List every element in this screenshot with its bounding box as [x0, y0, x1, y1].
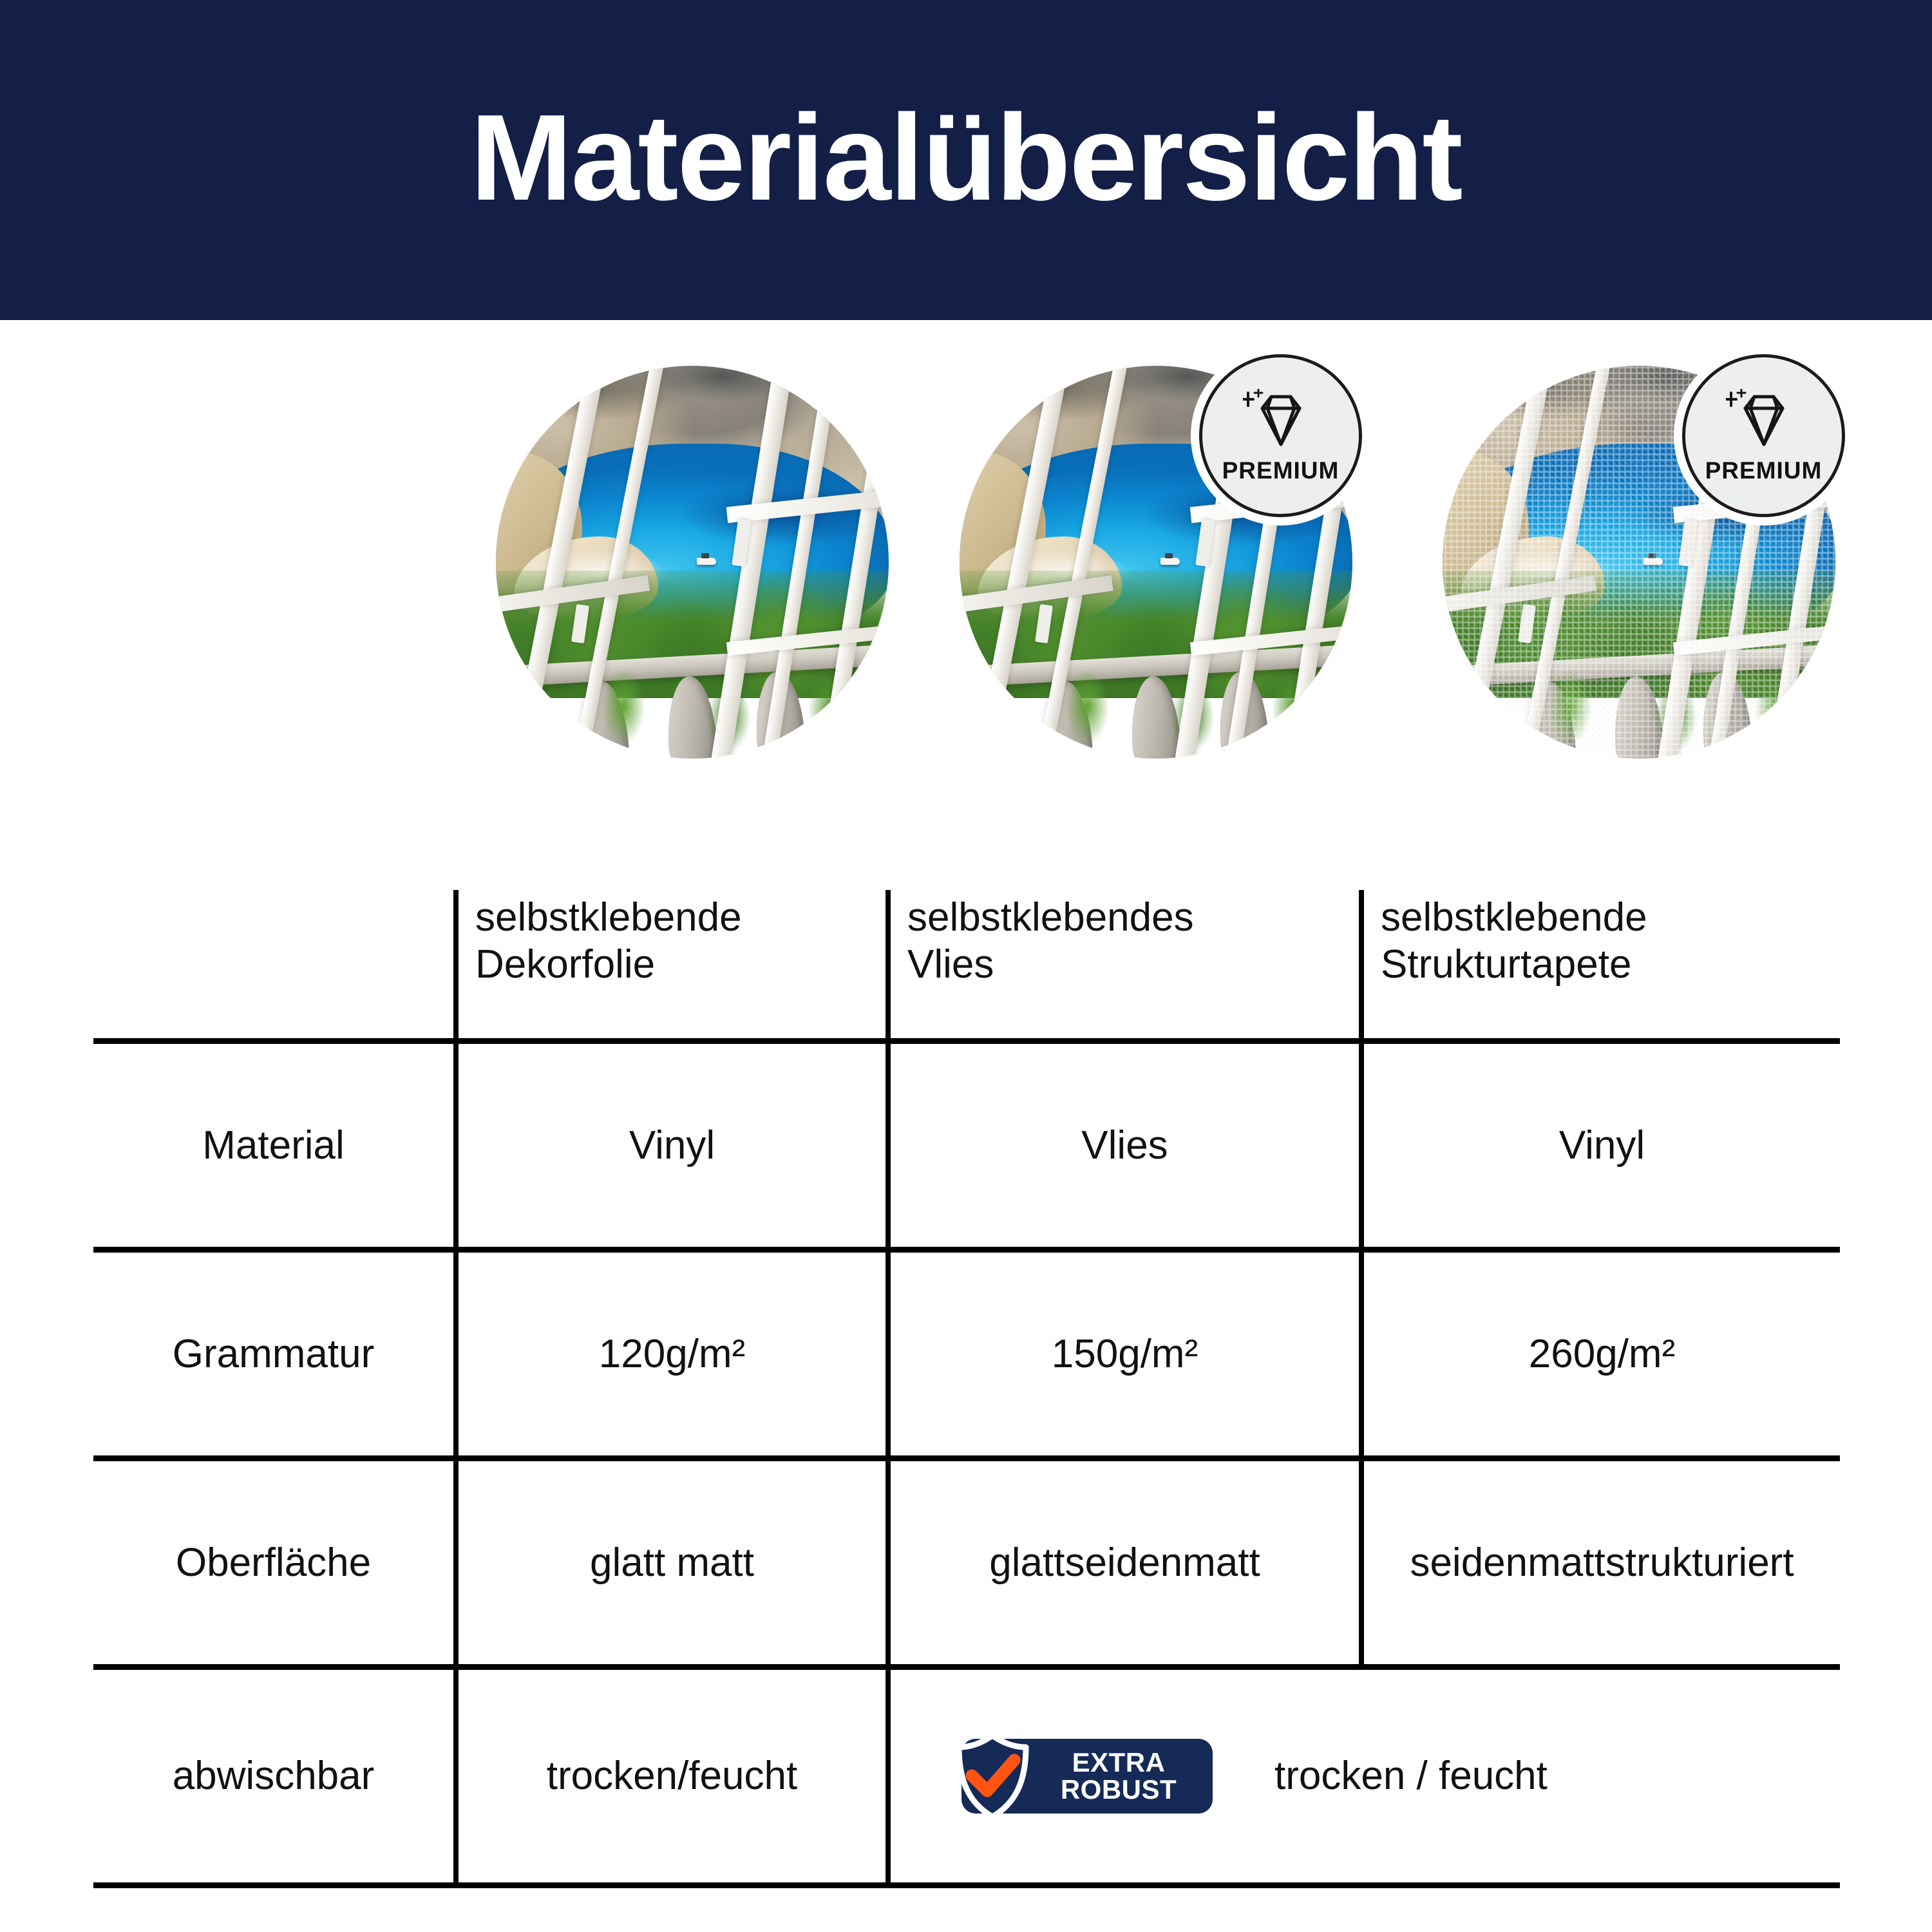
- premium-badge-label: PREMIUM: [1222, 459, 1340, 482]
- shield-check-icon: [952, 1732, 1032, 1821]
- balcony-railing: [960, 656, 1352, 759]
- cell-oberflaeche-strukturtapete: seidenmattstrukturiert: [1359, 1461, 1840, 1664]
- product-preview-strukturtapete[interactable]: PREMIUM: [1443, 361, 1842, 760]
- baluster: [496, 685, 544, 759]
- cell-grammatur-vlies: 150g/m²: [885, 1253, 1359, 1455]
- column-header-line1: selbstklebende: [475, 894, 742, 941]
- preview-image-dekorfolie: [496, 366, 889, 759]
- column-header-dekorfolie: selbstklebende Dekorfolie: [453, 890, 885, 1038]
- table-row-oberflaeche: Oberfläche glatt matt glattseidenmatt se…: [93, 1455, 1840, 1664]
- column-header-line2: Vlies: [907, 941, 1194, 988]
- column-header-line1: selbstklebendes: [907, 894, 1194, 941]
- cell-material-dekorfolie: Vinyl: [453, 1044, 885, 1247]
- cell-grammatur-dekorfolie: 120g/m²: [453, 1253, 885, 1455]
- diamond-icon: [1726, 389, 1802, 451]
- baluster: [1041, 679, 1095, 759]
- cell-grammatur-strukturtapete: 260g/m²: [1359, 1253, 1840, 1455]
- cell-abwischbar-value: trocken / feucht: [1274, 1752, 1548, 1799]
- cell-oberflaeche-dekorfolie: glatt matt: [453, 1461, 885, 1664]
- cell-abwischbar-merged: EXTRA ROBUST trocken / feucht: [885, 1670, 1840, 1882]
- cell-material-strukturtapete: Vinyl: [1359, 1044, 1840, 1247]
- column-header-strukturtapete: selbstklebende Strukturtapete: [1359, 890, 1840, 1038]
- material-overview-page: Materialübersicht: [0, 0, 1932, 1932]
- boat-icon: [1160, 558, 1180, 565]
- product-preview-vlies[interactable]: PREMIUM: [960, 361, 1359, 760]
- column-header-line1: selbstklebende: [1381, 894, 1647, 941]
- extra-robust-line2: ROBUST: [1044, 1776, 1193, 1803]
- header-corner-cell: [93, 890, 453, 1038]
- deep-water-shade: [676, 484, 888, 545]
- baluster: [960, 685, 1007, 759]
- cliff-shadow-secondary: [650, 366, 794, 402]
- premium-badge-label: PREMIUM: [1705, 459, 1823, 482]
- cell-oberflaeche-vlies: glattseidenmatt: [885, 1461, 1359, 1664]
- extra-robust-line1: EXTRA: [1044, 1749, 1193, 1776]
- baluster: [1443, 685, 1490, 759]
- baluster: [1217, 670, 1271, 759]
- page-header: Materialübersicht: [0, 0, 1932, 320]
- diamond-icon: [1243, 389, 1319, 451]
- boat-icon: [697, 558, 716, 565]
- table-row-material: Material Vinyl Vlies Vinyl: [93, 1038, 1840, 1247]
- cell-material-vlies: Vlies: [885, 1044, 1359, 1247]
- material-comparison-table: selbstklebende Dekorfolie selbstklebende…: [93, 890, 1840, 1888]
- extra-robust-badge: EXTRA ROBUST: [961, 1736, 1213, 1817]
- row-label: Grammatur: [93, 1253, 453, 1455]
- balcony-railing: [496, 656, 889, 759]
- column-header-line2: Strukturtapete: [1381, 941, 1647, 988]
- premium-badge: PREMIUM: [1199, 354, 1362, 517]
- table-header-row: selbstklebende Dekorfolie selbstklebende…: [93, 890, 1840, 1038]
- extra-robust-plate: EXTRA ROBUST: [961, 1739, 1213, 1814]
- baluster: [841, 665, 889, 759]
- product-preview-row: PREMIUM: [0, 361, 1932, 773]
- product-preview-dekorfolie[interactable]: [496, 361, 895, 760]
- baluster: [1524, 679, 1578, 759]
- baluster: [665, 675, 719, 759]
- baluster: [1788, 665, 1835, 759]
- baluster: [1305, 665, 1352, 759]
- boat-icon: [1643, 558, 1663, 565]
- baluster: [753, 670, 807, 759]
- column-header-line2: Dekorfolie: [475, 941, 742, 988]
- column-header-vlies: selbstklebendes Vlies: [885, 890, 1359, 1038]
- baluster: [577, 679, 631, 759]
- baluster: [1612, 675, 1666, 759]
- page-title: Materialübersicht: [470, 97, 1461, 219]
- balcony-railing: [1443, 656, 1835, 759]
- row-label: Material: [93, 1044, 453, 1247]
- baluster: [1129, 675, 1183, 759]
- table-row-abwischbar: abwischbar trocken/feucht EXTRA: [93, 1664, 1840, 1888]
- table-row-grammatur: Grammatur 120g/m² 150g/m² 260g/m²: [93, 1247, 1840, 1455]
- row-label: Oberfläche: [93, 1461, 453, 1664]
- baluster: [1700, 670, 1754, 759]
- cell-abwischbar-dekorfolie: trocken/feucht: [453, 1670, 885, 1882]
- premium-badge: PREMIUM: [1682, 354, 1845, 517]
- row-label: abwischbar: [93, 1670, 453, 1882]
